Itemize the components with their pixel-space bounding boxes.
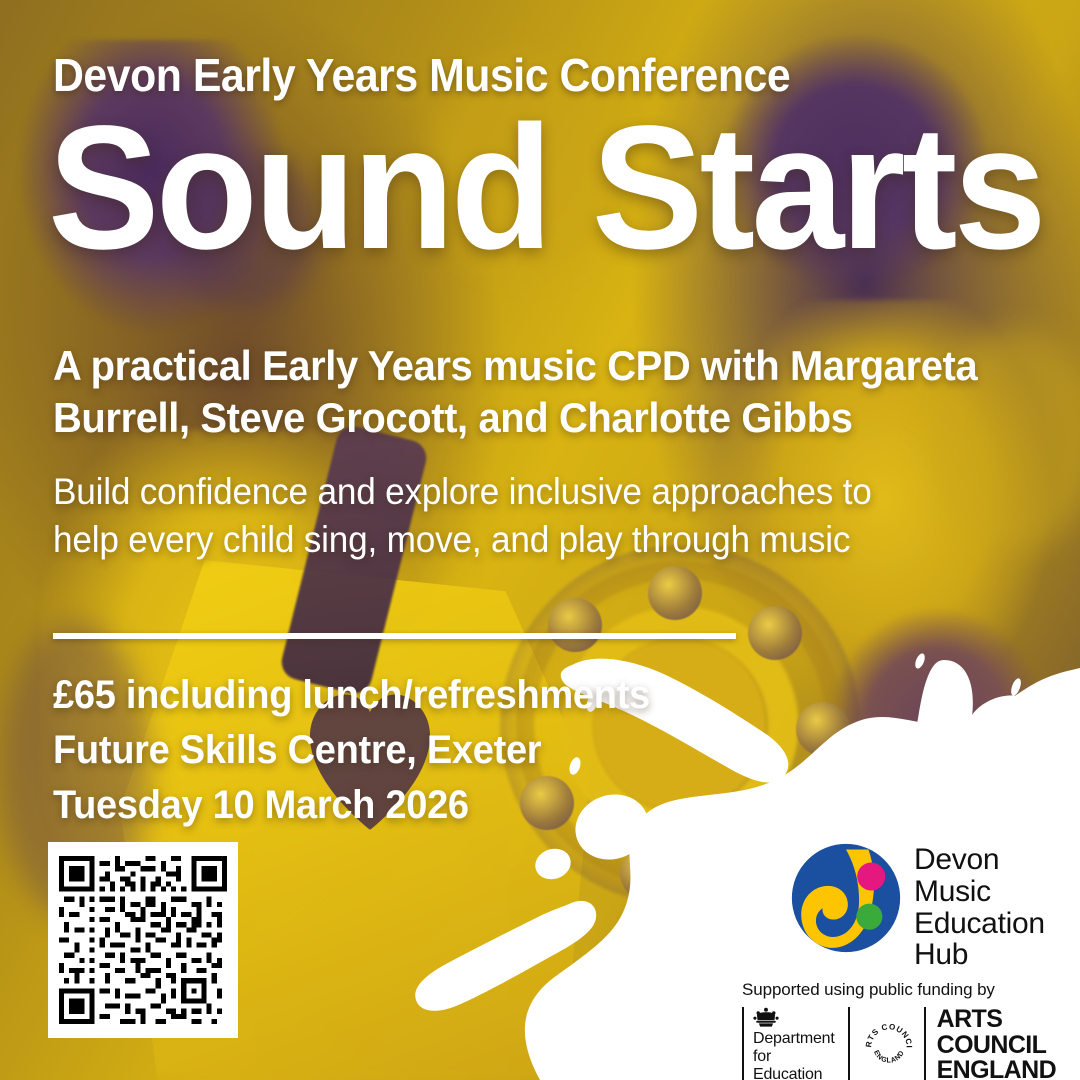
dmeh-logo-wordmark: Devon Music Education Hub (914, 842, 1045, 971)
page-subtitle: A practical Early Years music CPD with M… (53, 340, 994, 444)
ace-seal-bottom-text: ENGLAND (872, 1050, 906, 1065)
tambourine-jingle (796, 702, 850, 756)
dmeh-word-line: Hub (914, 939, 1045, 971)
devon-music-education-hub-logo: Devon Music Education Hub (790, 842, 1070, 971)
detail-date: Tuesday 10 March 2026 (53, 778, 775, 833)
ace-line-1: ARTS COUNCIL (937, 1007, 1072, 1058)
ace-line-2: ENGLAND (937, 1058, 1072, 1080)
tambourine-jingle (620, 846, 674, 900)
royal-crown-icon (753, 1007, 779, 1028)
department-for-education-logo: Department for Education (742, 1007, 835, 1080)
dmeh-logo-mark (790, 842, 902, 954)
qr-code-image (59, 853, 227, 1027)
arts-council-wordmark: ARTS COUNCIL ENGLAND (924, 1007, 1072, 1080)
svg-text:ARTS COUNCIL: ARTS COUNCIL (863, 1019, 914, 1049)
divider-rule (53, 633, 736, 639)
dmeh-word-line: Music (914, 876, 1045, 908)
event-details: £65 including lunch/refreshments Future … (53, 668, 775, 832)
dfe-line-2: for Education (753, 1048, 835, 1080)
dfe-line-1: Department (753, 1030, 835, 1048)
detail-price: £65 including lunch/refreshments (53, 668, 775, 723)
tambourine-jingle (648, 566, 702, 620)
arts-council-england-logo: ARTS COUNCIL ENGLAND ARTS COUNCIL ENGLAN… (848, 1007, 1072, 1080)
page-description: Build confidence and explore inclusive a… (53, 468, 927, 564)
page-title: Sound Starts (48, 104, 1017, 273)
arts-council-seal-icon: ARTS COUNCIL ENGLAND (863, 1019, 915, 1071)
funding-statement: Supported using public funding by (742, 980, 1072, 1000)
qr-code[interactable] (48, 842, 238, 1038)
dmeh-word-line: Devon (914, 844, 1045, 876)
svg-text:ENGLAND: ENGLAND (872, 1050, 906, 1065)
tambourine-jingle (548, 598, 602, 652)
detail-venue: Future Skills Centre, Exeter (53, 723, 775, 778)
dmeh-word-line: Education (914, 908, 1045, 940)
poster-canvas: Devon Early Years Music Conference Sound… (0, 0, 1080, 1080)
funding-credits: Supported using public funding by (742, 980, 1072, 1080)
tambourine-jingle (748, 606, 802, 660)
ace-seal-top-text: ARTS COUNCIL (863, 1019, 914, 1049)
